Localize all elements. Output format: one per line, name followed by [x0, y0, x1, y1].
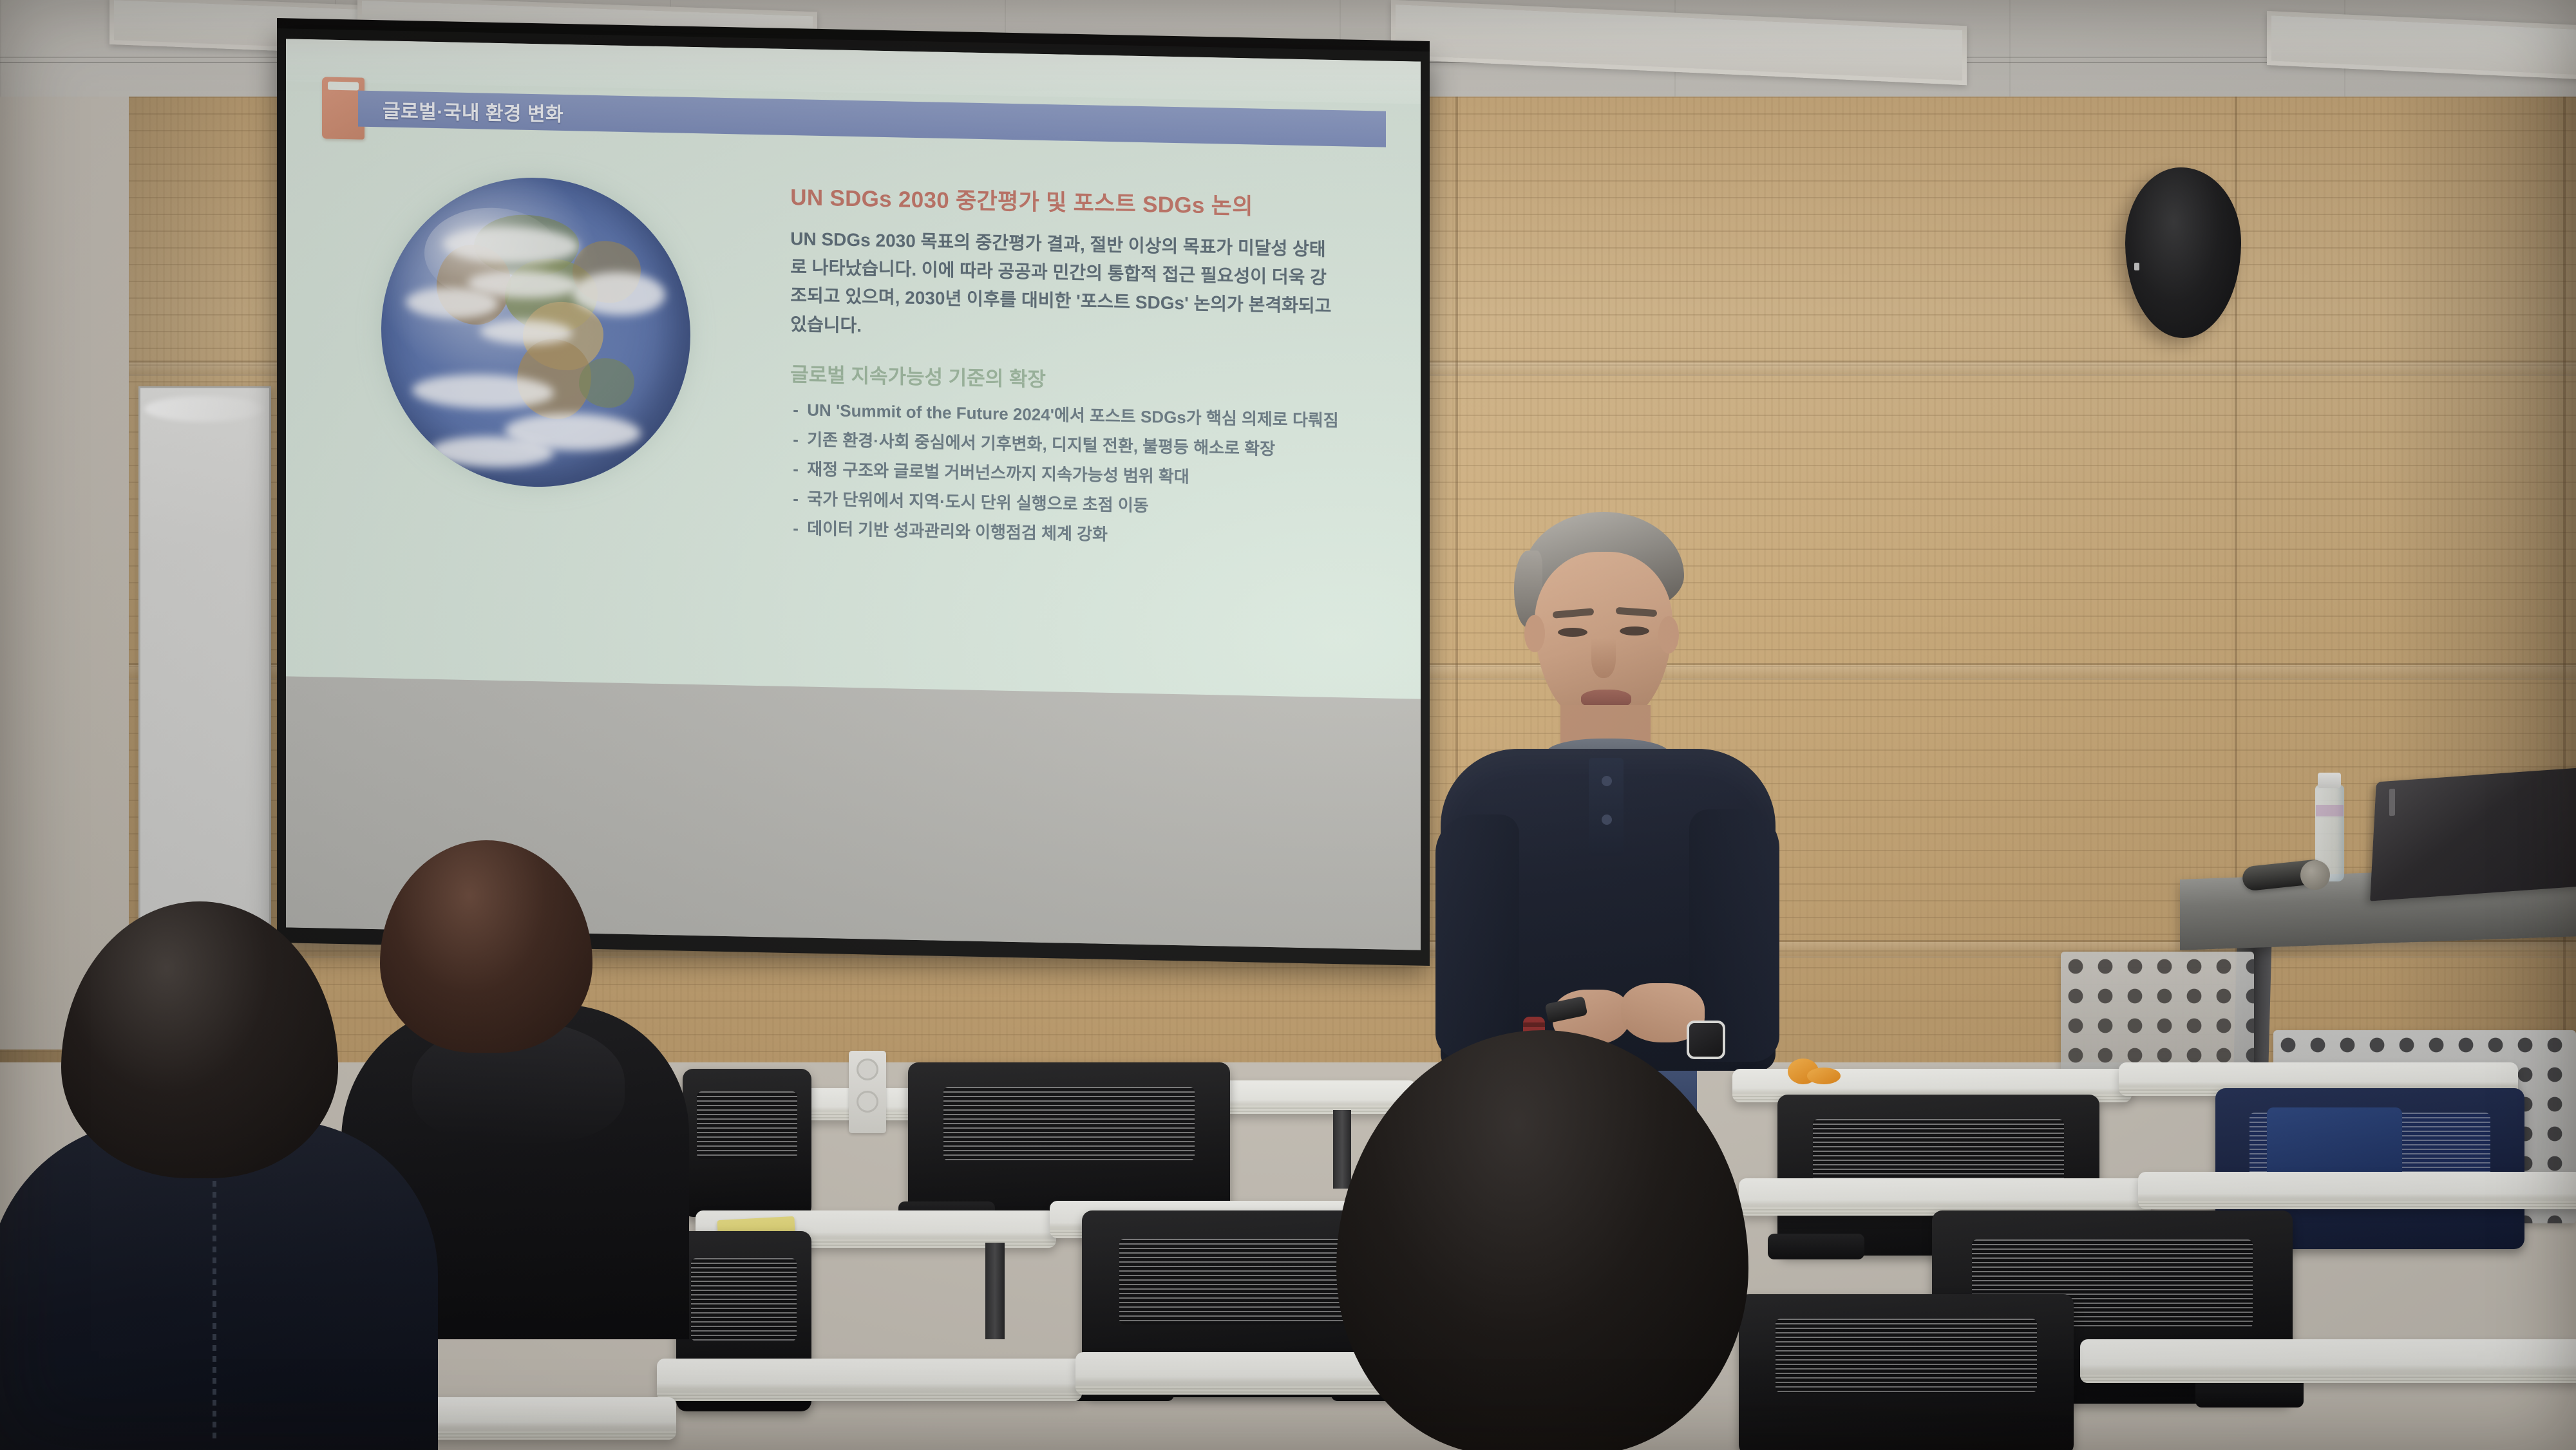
wall-power-outlet[interactable]	[849, 1051, 886, 1133]
projection-screen: 글로벌·국내 환경 변화	[277, 28, 1430, 966]
whiteboard-panel	[138, 386, 271, 925]
slide-paragraph: UN SDGs 2030 목표의 중간평가 결과, 절반 이상의 목표가 미달성…	[790, 225, 1338, 350]
desk-leg	[985, 1243, 1005, 1339]
slide-bullet: 데이터 기반 성과관리와 이행점검 체계 강화	[790, 516, 1367, 552]
audience-jacket-seam	[213, 1159, 216, 1442]
earth-globe-icon	[381, 174, 690, 490]
laptop[interactable]	[2370, 767, 2576, 901]
presenter-placket	[1589, 758, 1624, 856]
desk-leg	[1333, 1110, 1351, 1189]
laptop-logo-icon	[2389, 789, 2395, 816]
globe-land	[579, 358, 634, 409]
presenter-ear	[1658, 616, 1679, 654]
desk	[657, 1359, 1082, 1401]
presenter-nose	[1591, 638, 1616, 678]
presentation-slide: 글로벌·국내 환경 변화	[286, 39, 1421, 699]
presenter-button	[1602, 776, 1612, 786]
whiteboard-glare	[144, 396, 264, 422]
slide-image-column	[286, 135, 785, 686]
desk	[2080, 1339, 2576, 1383]
peel-piece	[1807, 1068, 1841, 1084]
chair-mesh	[691, 1258, 797, 1341]
presenter-eye	[1558, 628, 1587, 637]
left-wall-column	[0, 97, 129, 1050]
chair-mesh	[1776, 1319, 2037, 1393]
slide-subtitle: 글로벌 지속가능성 기준의 확장	[790, 358, 1382, 399]
slide-title: UN SDGs 2030 중간평가 및 포스트 SDGs 논의	[790, 179, 1382, 223]
speaker-led-icon	[2134, 263, 2139, 270]
smartwatch	[1687, 1021, 1725, 1059]
slide-body: UN SDGs 2030 중간평가 및 포스트 SDGs 논의 UN SDGs …	[286, 135, 1421, 699]
tangerine-peel	[1784, 1055, 1843, 1088]
slide-text-column: UN SDGs 2030 중간평가 및 포스트 SDGs 논의 UN SDGs …	[785, 146, 1421, 699]
slide-bullet-list: UN 'Summit of the Future 2024'에서 포스트 SDG…	[790, 397, 1382, 552]
water-bottle-cap	[2318, 773, 2341, 788]
presenter-button	[1602, 814, 1612, 825]
presenter	[1426, 512, 1787, 1066]
presenter-arm-left	[1435, 814, 1519, 1059]
chair[interactable]	[683, 1069, 811, 1217]
lecture-hall-scene: 글로벌·국내 환경 변화	[0, 0, 2576, 1450]
chair-mesh	[943, 1087, 1195, 1161]
presenter-eye	[1620, 626, 1649, 636]
slide-header-label: 글로벌·국내 환경 변화	[358, 95, 563, 127]
screen-surface: 글로벌·국내 환경 변화	[286, 39, 1421, 950]
chair-armrest	[1768, 1234, 1864, 1259]
chair-mesh	[697, 1091, 797, 1160]
desk	[2138, 1172, 2576, 1209]
chair[interactable]	[908, 1062, 1230, 1223]
chair[interactable]	[1739, 1294, 2074, 1450]
presenter-ear	[1524, 615, 1545, 652]
water-bottle-label	[2316, 805, 2344, 816]
